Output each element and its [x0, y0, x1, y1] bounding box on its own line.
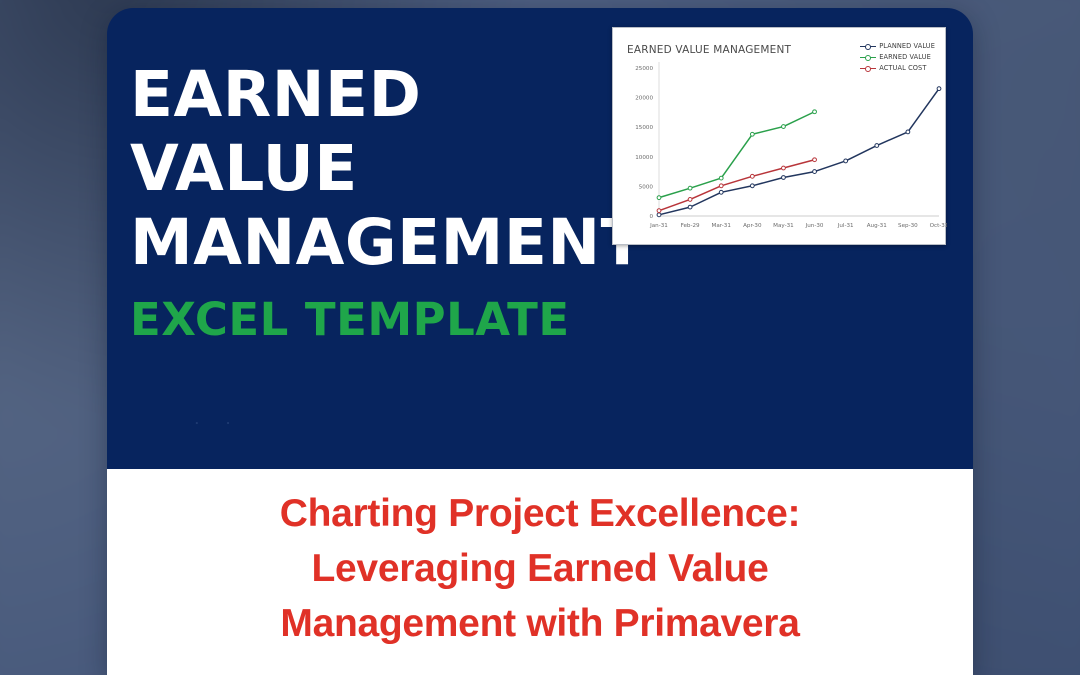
legend-swatch-icon — [860, 43, 876, 50]
svg-text:20000: 20000 — [635, 96, 653, 102]
legend-item-planned-value: PLANNED VALUE — [860, 42, 935, 50]
svg-text:Sep-30: Sep-30 — [898, 223, 918, 229]
article-section: Charting Project Excellence: Leveraging … — [107, 469, 973, 675]
svg-text:Apr-30: Apr-30 — [743, 223, 762, 229]
hero-subtitle: EXCEL TEMPLATE — [130, 294, 690, 346]
hero-line-3: MANAGEMENT — [130, 206, 690, 280]
screenshot-stage: EARNED VALUE MANAGEMENT EXCEL TEMPLATE .… — [0, 0, 1080, 675]
hero-title-block: EARNED VALUE MANAGEMENT EXCEL TEMPLATE — [130, 58, 690, 346]
svg-text:Jan-31: Jan-31 — [649, 223, 668, 229]
article-heading-line-2: Leveraging Earned Value — [131, 541, 949, 596]
chart-title: EARNED VALUE MANAGEMENT — [627, 44, 791, 56]
chart-plot-area: 0500010000150002000025000Jan-31Feb-29Mar… — [613, 58, 947, 244]
hero-section: EARNED VALUE MANAGEMENT EXCEL TEMPLATE .… — [107, 8, 973, 469]
legend-label: PLANNED VALUE — [879, 42, 935, 50]
article-card: EARNED VALUE MANAGEMENT EXCEL TEMPLATE .… — [107, 8, 973, 675]
hero-line-2: VALUE — [130, 132, 690, 206]
svg-text:Oct-31: Oct-31 — [930, 223, 947, 229]
svg-text:May-31: May-31 — [773, 223, 794, 229]
article-heading: Charting Project Excellence: Leveraging … — [107, 486, 973, 651]
svg-text:0: 0 — [649, 214, 653, 220]
svg-text:Feb-29: Feb-29 — [681, 223, 700, 229]
article-heading-line-1: Charting Project Excellence: — [131, 486, 949, 541]
earned-value-chart: EARNED VALUE MANAGEMENT PLANNED VALUE EA… — [612, 27, 946, 245]
svg-text:Aug-31: Aug-31 — [867, 223, 887, 229]
chart-svg: 0500010000150002000025000Jan-31Feb-29Mar… — [613, 58, 947, 244]
hero-watermark: . . — [195, 412, 242, 427]
svg-text:15000: 15000 — [635, 125, 653, 131]
svg-text:10000: 10000 — [635, 155, 653, 161]
svg-text:5000: 5000 — [639, 184, 654, 190]
svg-text:Jul-31: Jul-31 — [837, 223, 854, 229]
svg-text:Jun-30: Jun-30 — [805, 223, 824, 229]
article-heading-line-3: Management with Primavera — [131, 596, 949, 651]
svg-text:Mar-31: Mar-31 — [712, 223, 732, 229]
hero-line-1: EARNED — [130, 58, 690, 132]
svg-text:25000: 25000 — [635, 66, 653, 72]
